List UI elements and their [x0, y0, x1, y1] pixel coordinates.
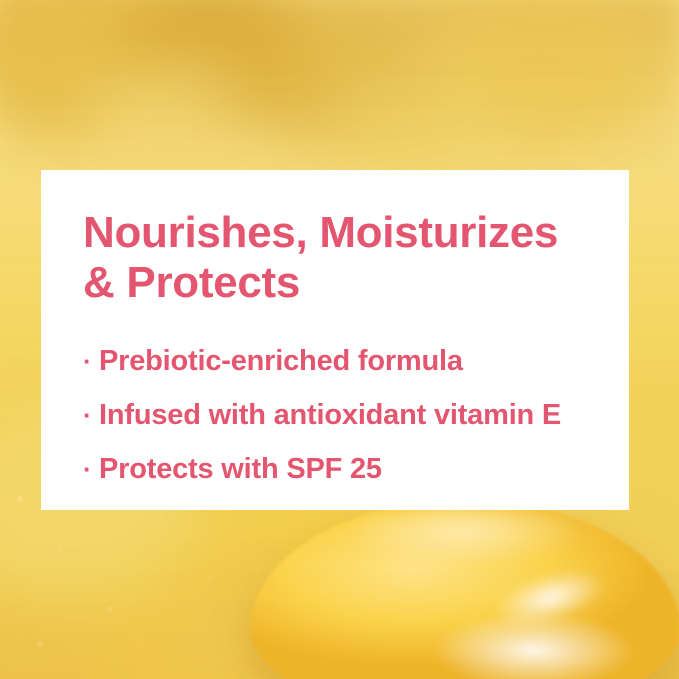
text-panel: Nourishes, Moisturizes & Protects · Preb…: [41, 170, 629, 510]
benefit-list: · Prebiotic-enriched formula · Infused w…: [83, 334, 589, 496]
product-marketing-image: Nourishes, Moisturizes & Protects · Preb…: [0, 0, 679, 679]
list-item-label: Infused with antioxidant vitamin E: [99, 388, 561, 442]
list-item: · Protects with SPF 25: [83, 442, 589, 496]
bokeh-blob: [90, 60, 240, 170]
list-item: · Prebiotic-enriched formula: [83, 334, 589, 388]
list-item-label: Prebiotic-enriched formula: [99, 334, 463, 388]
bullet-dot-icon: ·: [83, 442, 99, 496]
panel-headline: Nourishes, Moisturizes & Protects: [83, 208, 589, 308]
bullet-dot-icon: ·: [83, 334, 99, 388]
list-item: · Infused with antioxidant vitamin E: [83, 388, 589, 442]
list-item-label: Protects with SPF 25: [99, 442, 382, 496]
capsule-top-reflection: [262, 508, 667, 628]
bullet-dot-icon: ·: [83, 388, 99, 442]
